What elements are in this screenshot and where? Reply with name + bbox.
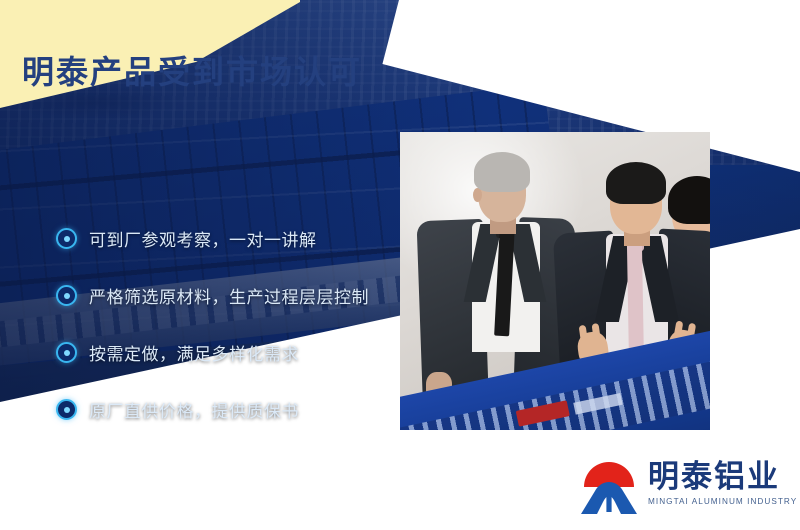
dark-hair <box>606 162 666 204</box>
list-item-label: 可到厂参观考察，一对一讲解 <box>89 226 317 251</box>
feature-list: 可到厂参观考察，一对一讲解 严格筛选原材料，生产过程层层控制 按需定做，满足多样… <box>56 210 396 438</box>
list-item: 可到厂参观考察，一对一讲解 <box>56 210 396 267</box>
list-item: 按需定做，满足多样化需求 <box>56 324 396 381</box>
grey-hair <box>474 152 530 192</box>
target-bullet-icon <box>56 285 77 306</box>
mingtai-sun-mountain-icon <box>578 460 640 516</box>
page-title: 明泰产品受到市场认可 <box>22 47 362 93</box>
list-item: 原厂直供价格，提供质保书 <box>56 381 396 438</box>
target-bullet-icon <box>56 228 77 249</box>
company-logo: 明泰铝业 MINGTAI ALUMINUM INDUSTRY CO., LTD <box>578 460 800 516</box>
logo-wordmark: 明泰铝业 MINGTAI ALUMINUM INDUSTRY CO., LTD <box>648 460 800 506</box>
target-bullet-icon <box>56 399 77 420</box>
list-item-label: 原厂直供价格，提供质保书 <box>89 397 299 422</box>
logo-name-en: MINGTAI ALUMINUM INDUSTRY CO., LTD <box>648 497 800 506</box>
list-item-label: 严格筛选原材料，生产过程层层控制 <box>89 283 369 308</box>
business-people-photo <box>400 132 710 430</box>
target-bullet-icon <box>56 342 77 363</box>
promo-banner: 明泰产品受到市场认可 可到厂参观考察，一对一讲解 严格筛选原材料，生产过程层层控… <box>0 0 800 530</box>
list-item-label: 按需定做，满足多样化需求 <box>89 340 299 365</box>
list-item: 严格筛选原材料，生产过程层层控制 <box>56 267 396 324</box>
dark-hair <box>668 176 710 224</box>
logo-name-cn: 明泰铝业 <box>648 462 800 494</box>
